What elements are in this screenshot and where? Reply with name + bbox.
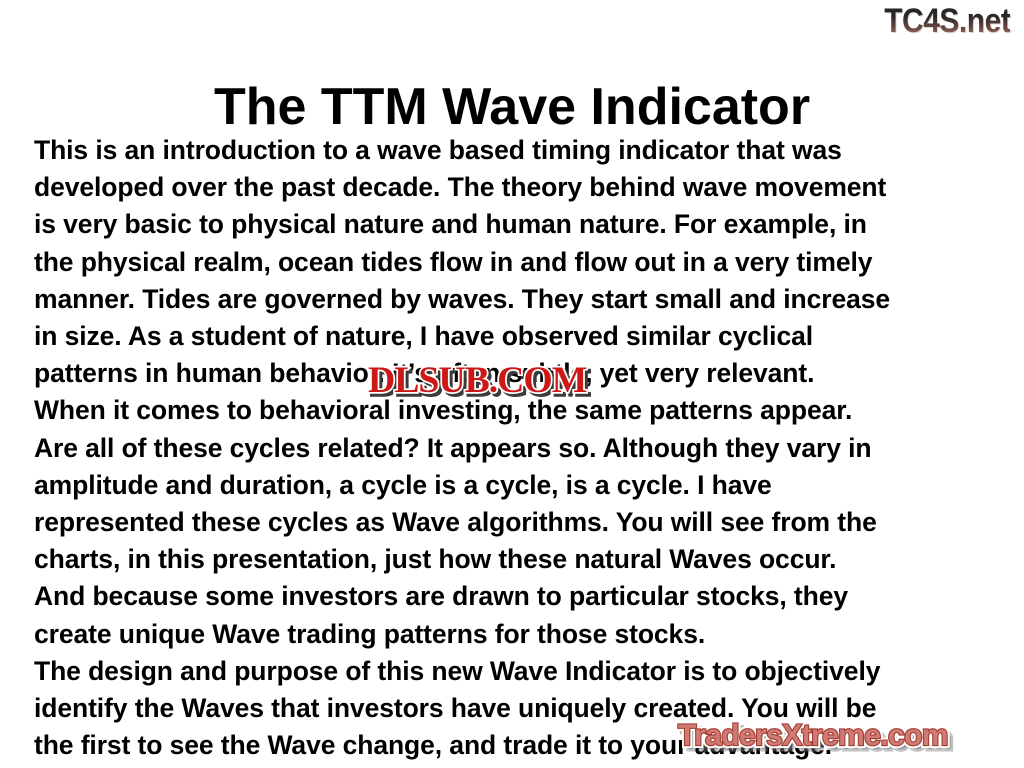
slide-title: The TTM Wave Indicator bbox=[0, 79, 1024, 135]
body-line: charts, in this presentation, just how t… bbox=[34, 541, 996, 578]
body-line: in size. As a student of nature, I have … bbox=[34, 318, 996, 355]
body-line: create unique Wave trading patterns for … bbox=[34, 616, 996, 653]
body-line: the physical realm, ocean tides flow in … bbox=[34, 244, 996, 281]
body-line: represented these cycles as Wave algorit… bbox=[34, 504, 996, 541]
body-line: This is an introduction to a wave based … bbox=[34, 132, 996, 169]
body-line: manner. Tides are governed by waves. The… bbox=[34, 281, 996, 318]
site-logo-container: TradersXtreme.com TradersXtreme.com Trad… bbox=[678, 718, 1018, 760]
body-line: The design and purpose of this new Wave … bbox=[34, 653, 996, 690]
body-line: amplitude and duration, a cycle is a cyc… bbox=[34, 467, 996, 504]
presentation-slide: TC4S.net TC4S.net The TTM Wave Indicator… bbox=[0, 0, 1024, 768]
body-text-block: This is an introduction to a wave based … bbox=[34, 132, 996, 764]
body-line: is very basic to physical nature and hum… bbox=[34, 206, 996, 243]
brand-logo-tc4s: TC4S.net bbox=[884, 4, 1010, 38]
body-line: Are all of these cycles related? It appe… bbox=[34, 430, 996, 467]
watermark-dlsub: DLSUB.COM bbox=[368, 362, 586, 399]
site-logo-tradersxtreme: TradersXtreme.com bbox=[678, 720, 948, 752]
body-line: And because some investors are drawn to … bbox=[34, 578, 996, 615]
body-line: developed over the past decade. The theo… bbox=[34, 169, 996, 206]
